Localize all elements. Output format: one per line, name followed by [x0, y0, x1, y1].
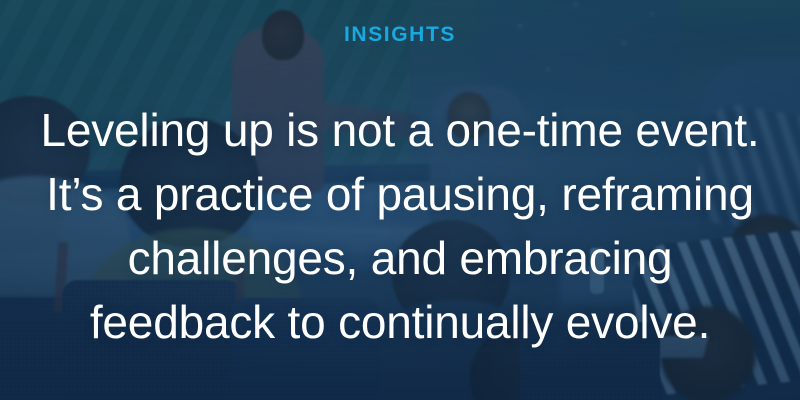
quote-line-2: It’s a practice of pausing, reframing	[8, 162, 792, 226]
quote-line-4: feedback to continually evolve.	[8, 290, 792, 354]
quote-line-3: challenges, and embracing	[8, 226, 792, 290]
insights-quote-card: INSIGHTS Leveling up is not a one-time e…	[0, 0, 800, 400]
eyebrow-label: INSIGHTS	[344, 24, 456, 45]
quote-line-1: Leveling up is not a one-time event.	[8, 98, 792, 162]
quote-text: Leveling up is not a one-time event. It’…	[0, 98, 800, 354]
card-content: INSIGHTS Leveling up is not a one-time e…	[0, 0, 800, 400]
